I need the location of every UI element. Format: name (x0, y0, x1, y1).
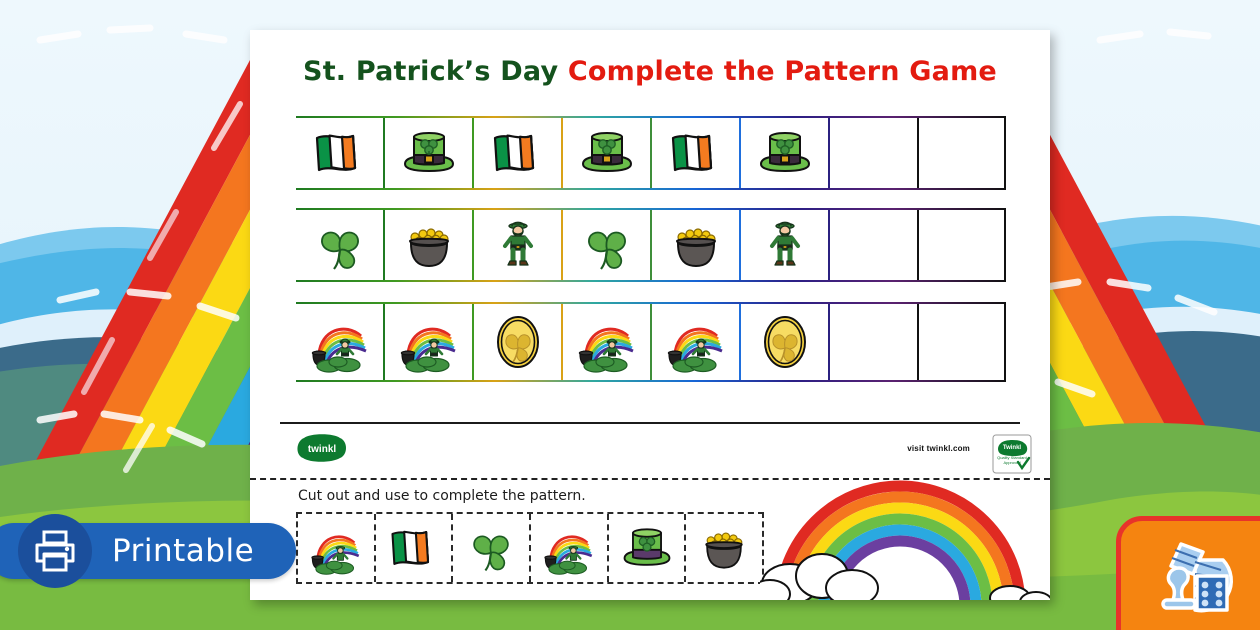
pattern-cell-flag[interactable] (472, 118, 561, 188)
scene: St. Patrick’s Day Complete the Pattern G… (0, 0, 1260, 630)
pattern-cell-leprechaun[interactable] (739, 210, 828, 280)
pattern-cell-hat[interactable] (383, 118, 472, 188)
pattern-cell-rainbow-leprechaun[interactable] (650, 304, 739, 380)
cut-out-strip (296, 512, 764, 584)
pattern-cell-flag[interactable] (296, 118, 383, 188)
title-part-1: St. Patrick’s Day (303, 56, 568, 87)
pattern-cell-pot-of-gold[interactable] (383, 210, 472, 280)
pattern-cell-gold-coin[interactable] (472, 304, 561, 380)
pattern-row-2 (296, 208, 1006, 282)
footer-divider (280, 422, 1020, 424)
pattern-cell-empty[interactable] (917, 118, 1006, 188)
pattern-cell-rainbow-leprechaun[interactable] (383, 304, 472, 380)
pattern-cell-hat[interactable] (739, 118, 828, 188)
pattern-cell-shamrock[interactable] (296, 210, 383, 280)
pattern-cell-flag[interactable] (650, 118, 739, 188)
pattern-row-1 (296, 116, 1006, 190)
twinkl-logo: twinkl (294, 433, 350, 463)
page-title: St. Patrick’s Day Complete the Pattern G… (250, 56, 1050, 87)
cut-piece-flag[interactable] (374, 514, 452, 582)
cut-instruction: Cut out and use to complete the pattern. (298, 488, 586, 504)
board-game-icon (1145, 534, 1241, 620)
pattern-row-3 (296, 302, 1006, 382)
pattern-cell-hat[interactable] (561, 118, 650, 188)
pattern-cell-rainbow-leprechaun[interactable] (296, 304, 383, 380)
pattern-cell-empty[interactable] (917, 304, 1006, 380)
pattern-cell-leprechaun[interactable] (472, 210, 561, 280)
pattern-cell-empty[interactable] (828, 304, 917, 380)
pattern-cell-empty[interactable] (828, 118, 917, 188)
cut-piece-hat[interactable] (607, 514, 685, 582)
pattern-cell-empty[interactable] (828, 210, 917, 280)
cut-piece-shamrock[interactable] (451, 514, 529, 582)
visit-url-text: visit twinkl.com (907, 444, 970, 453)
pattern-cell-shamrock[interactable] (561, 210, 650, 280)
cut-piece-pot-of-gold[interactable] (684, 514, 762, 582)
pattern-cell-pot-of-gold[interactable] (650, 210, 739, 280)
pattern-cell-empty[interactable] (917, 210, 1006, 280)
svg-text:twinkl: twinkl (308, 444, 337, 455)
cut-piece-rainbow-leprechaun[interactable] (298, 514, 374, 582)
sheet-rainbow-decoration (760, 456, 1050, 600)
printable-label: Printable (112, 533, 254, 569)
pattern-cell-rainbow-leprechaun[interactable] (561, 304, 650, 380)
pattern-cell-gold-coin[interactable] (739, 304, 828, 380)
title-part-2: Complete the Pattern Game (568, 56, 997, 87)
printable-badge[interactable]: Printable (0, 523, 296, 579)
svg-text:Twinkl: Twinkl (1003, 445, 1022, 451)
printer-icon (31, 528, 79, 574)
printer-icon-circle (18, 514, 92, 588)
game-category-badge[interactable] (1116, 516, 1260, 630)
worksheet-card[interactable]: St. Patrick’s Day Complete the Pattern G… (250, 30, 1050, 600)
cut-piece-rainbow-leprechaun[interactable] (529, 514, 607, 582)
